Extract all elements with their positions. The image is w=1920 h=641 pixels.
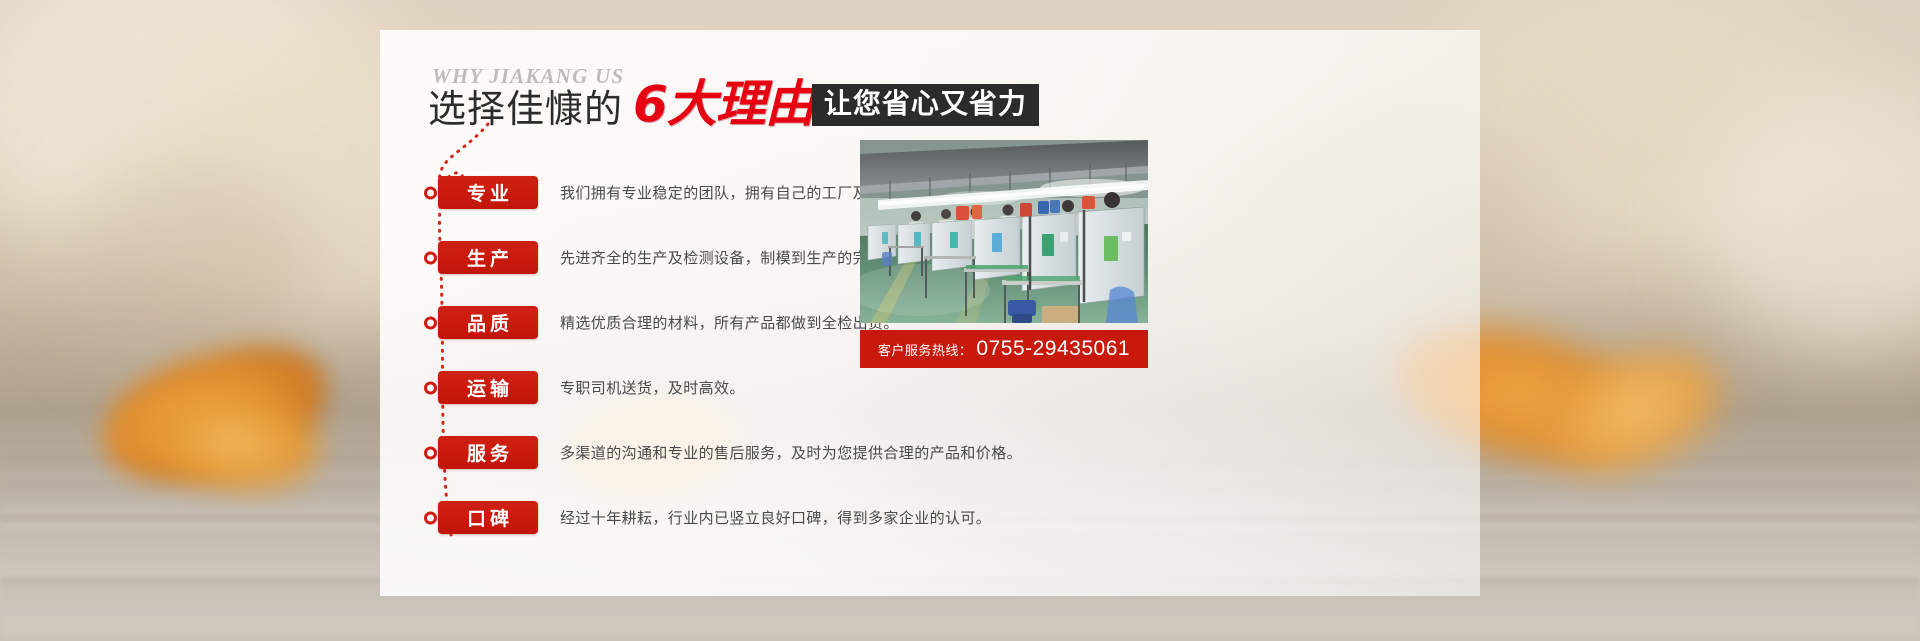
list-item[interactable]: 口碑 经过十年耕耘，行业内已竖立良好口碑，得到多家企业的认可。 — [438, 485, 1438, 550]
reason-tag: 品质 — [438, 306, 538, 339]
reason-tag: 专业 — [438, 176, 538, 209]
factory-photo-illustration — [860, 140, 1148, 323]
reason-description: 精选优质合理的材料，所有产品都做到全检出货。 — [560, 312, 899, 333]
reason-tag: 服务 — [438, 436, 538, 469]
reason-description: 多渠道的沟通和专业的售后服务，及时为您提供合理的产品和价格。 — [560, 442, 1022, 463]
title-left-group: WHY JIAKANG US 选择佳慷的 — [428, 90, 627, 128]
banner-stage: WHY JIAKANG US 选择佳慷的 6大理由 让您省心又省力 专业 我们拥… — [0, 0, 1920, 641]
list-item[interactable]: 服务 多渠道的沟通和专业的售后服务，及时为您提供合理的产品和价格。 — [438, 420, 1438, 485]
timeline-node-icon — [424, 511, 437, 524]
reason-tag: 运输 — [438, 371, 538, 404]
page-title: WHY JIAKANG US 选择佳慷的 6大理由 让您省心又省力 — [428, 58, 1039, 128]
factory-photo-block: 客户服务热线： 0755-29435061 — [860, 140, 1148, 368]
reason-description: 专职司机送货，及时高效。 — [560, 377, 745, 398]
timeline-node-icon — [424, 446, 437, 459]
title-english-subtitle: WHY JIAKANG US — [432, 64, 624, 89]
title-chinese-prefix: 选择佳慷的 — [428, 90, 623, 128]
bokeh-blob — [60, 170, 320, 370]
hotline-label: 客户服务热线： — [878, 340, 973, 359]
timeline-node-icon — [424, 186, 437, 199]
reason-description: 经过十年耕耘，行业内已竖立良好口碑，得到多家企业的认可。 — [560, 507, 991, 528]
reason-tag: 生产 — [438, 241, 538, 274]
timeline-node-icon — [424, 316, 437, 329]
content-panel: WHY JIAKANG US 选择佳慷的 6大理由 让您省心又省力 专业 我们拥… — [380, 30, 1480, 596]
hotline-number[interactable]: 0755-29435061 — [976, 337, 1130, 361]
reason-tag: 口碑 — [438, 501, 538, 534]
title-red-highlight: 6大理由 — [633, 81, 814, 128]
timeline-node-icon — [424, 381, 437, 394]
title-black-banner: 让您省心又省力 — [812, 84, 1039, 126]
timeline-node-icon — [424, 251, 437, 264]
hotline-bar: 客户服务热线： 0755-29435061 — [860, 330, 1148, 368]
factory-photo — [860, 140, 1148, 323]
